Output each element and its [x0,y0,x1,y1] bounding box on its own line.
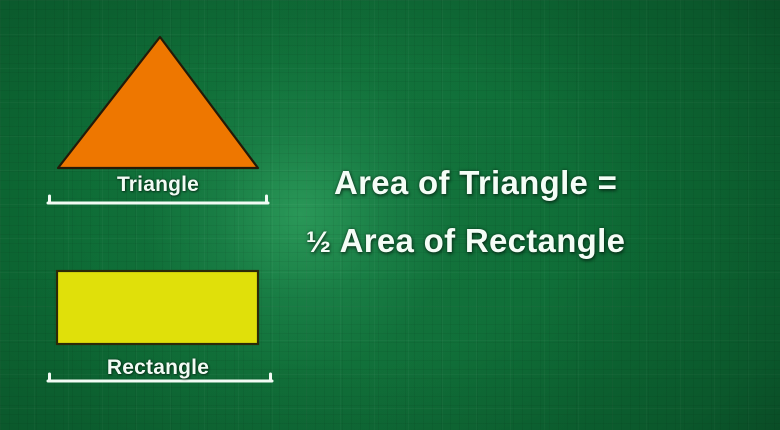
lesson-slide: Triangle Rectangle Area of Triangle = ½ … [0,0,780,430]
triangle-label: Triangle [0,173,316,197]
formula-line-1: Area of Triangle = [334,164,617,202]
formula-line-2-rest: Area of Rectangle [331,222,625,259]
formula-half-fraction: ½ [306,226,331,259]
formula-line-2: ½ Area of Rectangle [306,222,625,260]
rectangle-label: Rectangle [0,356,316,380]
